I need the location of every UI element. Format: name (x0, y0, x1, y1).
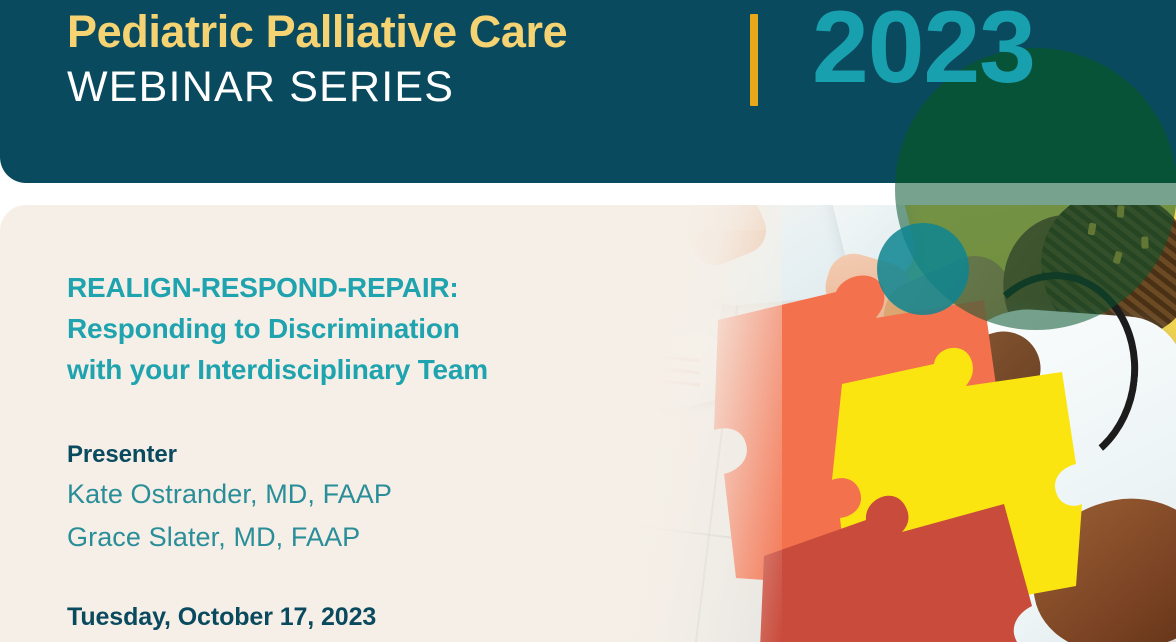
headline-line-3: with your Interdisciplinary Team (67, 350, 657, 391)
red-puzzle-piece (740, 494, 1040, 642)
header-band: Pediatric Palliative Care WEBINAR SERIES… (0, 0, 1176, 183)
presenter-label: Presenter (67, 441, 177, 469)
presenter-name-1: Kate Ostrander, MD, FAAP (67, 479, 392, 510)
photo-gutter-mask (612, 183, 1176, 205)
webinar-flyer: Pediatric Palliative Care WEBINAR SERIES… (0, 0, 1176, 642)
headline-line-1: REALIGN-RESPOND-REPAIR: (67, 268, 657, 309)
event-date: Tuesday, October 17, 2023 (67, 603, 376, 632)
series-title-secondary: WEBINAR SERIES (67, 63, 454, 111)
year-label: 2023 (812, 0, 1035, 98)
webinar-headline: REALIGN-RESPOND-REPAIR: Responding to Di… (67, 268, 657, 391)
presenter-name-2: Grace Slater, MD, FAAP (67, 522, 360, 553)
vertical-divider (750, 14, 758, 106)
series-title-primary: Pediatric Palliative Care (67, 7, 567, 57)
headline-line-2: Responding to Discrimination (67, 309, 657, 350)
